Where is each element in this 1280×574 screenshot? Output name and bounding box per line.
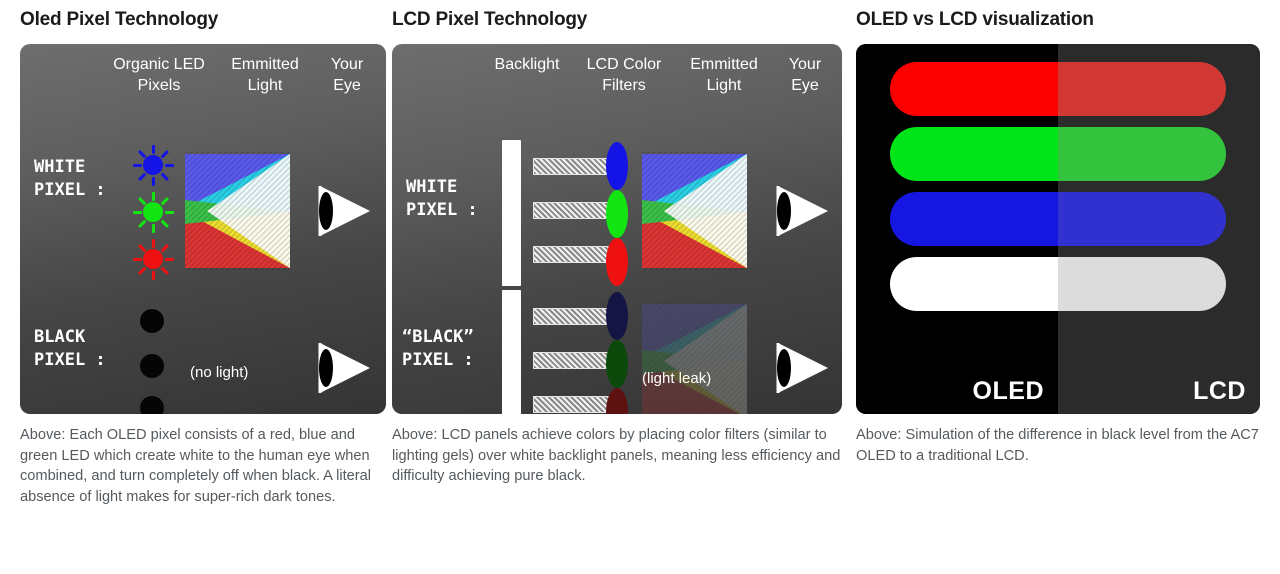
caption-visualization: Above: Simulation of the difference in b… — [856, 425, 1260, 466]
caption-lcd: Above: LCD panels achieve colors by plac… — [392, 425, 842, 487]
panel-lcd-body: Backlight LCD Color Filters Emmitted Lig… — [392, 44, 842, 414]
color-filter-red-dim — [606, 388, 628, 414]
eye-icon-white-oled — [316, 182, 372, 240]
panel-lcd-title: LCD Pixel Technology — [392, 0, 842, 44]
header-emmitted-light: Emmitted Light — [214, 54, 316, 96]
led-off-dot-2 — [140, 354, 164, 378]
light-beam-leak-lcd — [642, 302, 747, 414]
color-filter-green-dim — [606, 340, 628, 388]
led-off-dot-3 — [140, 396, 164, 414]
label-oled: OLED — [856, 377, 1058, 406]
color-filter-red — [606, 238, 628, 286]
color-filter-blue-dim — [606, 292, 628, 340]
row-label-black-pixel: BLACK PIXEL : — [34, 326, 106, 372]
header-your-eye-lcd: Your Eye — [774, 54, 836, 96]
led-green-icon — [130, 189, 176, 235]
caption-oled: Above: Each OLED pixel consists of a red… — [20, 425, 386, 507]
led-off-dot-1 — [140, 309, 164, 333]
eye-icon-black-lcd — [774, 339, 830, 397]
row-label-white-pixel: WHITE PIXEL : — [34, 156, 106, 202]
eye-icon-black-oled — [316, 339, 372, 397]
panel-oled-body: Organic LED Pixels Emmitted Light Your E… — [20, 44, 386, 414]
header-emmitted-light-lcd: Emmitted Light — [674, 54, 774, 96]
led-red-icon — [130, 236, 176, 282]
panel-lcd: LCD Pixel Technology Backlight LCD Color… — [392, 0, 842, 487]
header-organic-led-pixels: Organic LED Pixels — [106, 54, 212, 96]
backlight-bar-white — [502, 140, 521, 286]
bar-red — [890, 62, 1226, 116]
led-blue-icon — [130, 142, 176, 188]
panel-visualization: OLED vs LCD visualization OLED LCD — [856, 0, 1260, 466]
backlight-bar-black — [502, 290, 521, 414]
infographic-board: Oled Pixel Technology Organic LED Pixels… — [0, 0, 1280, 574]
panel-visualization-title: OLED vs LCD visualization — [856, 0, 1260, 44]
bar-green — [890, 127, 1226, 181]
panel-oled-title: Oled Pixel Technology — [20, 0, 386, 44]
color-filter-blue — [606, 142, 628, 190]
bar-white — [890, 257, 1226, 311]
note-no-light: (no light) — [190, 364, 248, 381]
row-label-white-pixel-lcd: WHITE PIXEL : — [406, 176, 478, 222]
header-backlight: Backlight — [472, 54, 582, 75]
color-filter-green — [606, 190, 628, 238]
light-beam-white-oled — [185, 152, 290, 270]
eye-icon-white-lcd — [774, 182, 830, 240]
panel-oled: Oled Pixel Technology Organic LED Pixels… — [20, 0, 386, 507]
note-light-leak: (light leak) — [642, 370, 711, 387]
bar-blue — [890, 192, 1226, 246]
row-label-black-pixel-lcd: “BLACK” PIXEL : — [402, 326, 474, 372]
light-beam-white-lcd — [642, 152, 747, 270]
header-lcd-color-filters: LCD Color Filters — [574, 54, 674, 96]
label-lcd: LCD — [1058, 377, 1260, 406]
header-your-eye: Your Eye — [316, 54, 378, 96]
visualization-body: OLED LCD — [856, 44, 1260, 414]
